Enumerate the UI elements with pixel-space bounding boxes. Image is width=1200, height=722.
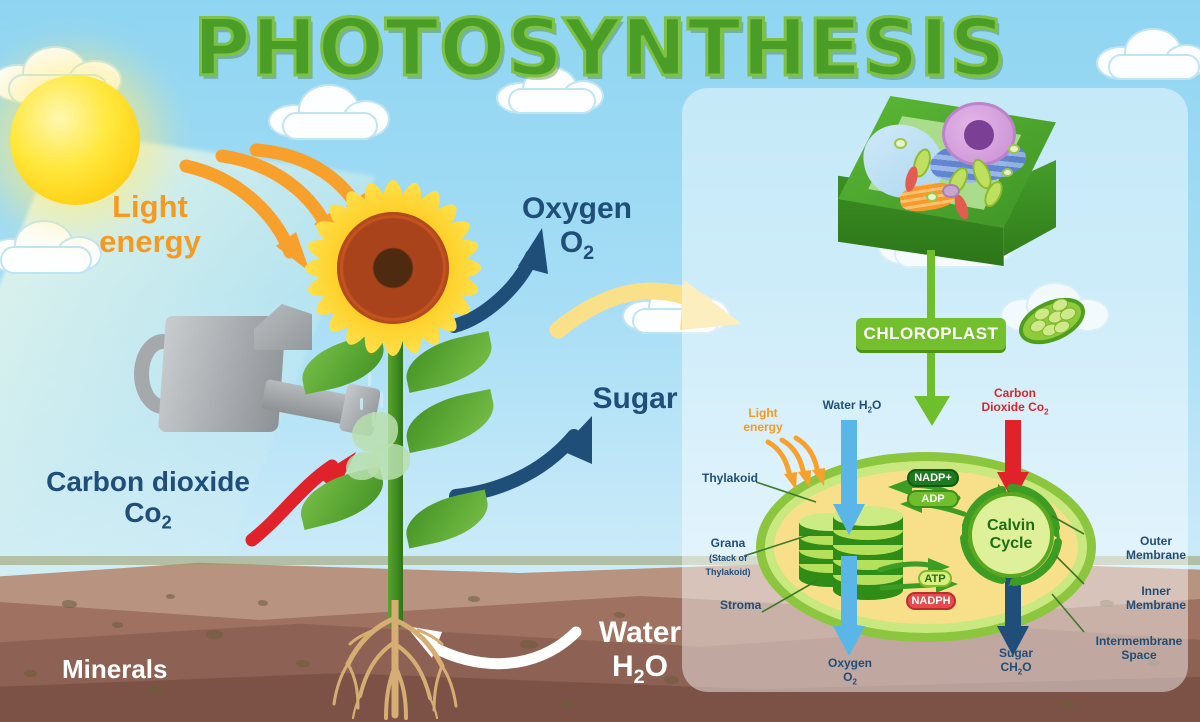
water-droplet [360, 398, 363, 410]
plant-roots [300, 600, 510, 720]
chloroplast-icon [1016, 292, 1088, 350]
label-light-energy-small: Light energy [735, 406, 791, 434]
water-droplet [380, 392, 383, 408]
pebble [560, 700, 573, 707]
label-inner-membrane: Inner Membrane [1118, 584, 1194, 612]
leaf [401, 490, 494, 549]
pebble [206, 630, 223, 639]
flower-disc [337, 212, 449, 324]
flow-arrowhead [912, 396, 952, 428]
pebble [166, 594, 175, 599]
vesicle [926, 192, 938, 202]
label-light-energy: Light energy [75, 190, 225, 259]
label-carbon-dioxide: Carbon dioxide Co2 [18, 466, 278, 534]
label-outer-membrane: Outer Membrane [1118, 534, 1194, 562]
pebble [258, 600, 268, 606]
label-thylakoid: Thylakoid [702, 471, 758, 485]
sunflower [278, 168, 508, 368]
flow-line [927, 250, 935, 320]
label-grana: Grana (Stack of Thylakoid) [692, 536, 764, 578]
label-oxygen: Oxygen O2 [502, 192, 652, 264]
water-droplet [368, 372, 371, 386]
label-minerals: Minerals [62, 655, 242, 684]
label-co2-input: Carbon Dioxide Co2 [962, 386, 1068, 417]
page-title: PHOTOSYNTHESIS [0, 10, 1200, 88]
label-water-input: Water H2O [812, 398, 892, 415]
label-stroma: Stroma [720, 598, 761, 612]
vesicle [1002, 168, 1013, 177]
vesicle [1008, 144, 1020, 154]
plant-cell-illustration [838, 96, 1056, 282]
vesicle [942, 184, 960, 198]
pebble [112, 622, 123, 628]
photosynthesis-diagram: PHOTOSYNTHESIS [0, 0, 1200, 722]
label-intermembrane-space: Intermembrane Space [1082, 634, 1196, 662]
label-oxygen-output: Oxygen O2 [812, 656, 888, 687]
vesicle [894, 138, 907, 149]
nucleolus [964, 120, 994, 150]
pebble [24, 670, 37, 677]
pebble [148, 686, 164, 694]
label-sugar-output: Sugar CH2O [978, 646, 1054, 677]
pebble [62, 600, 77, 608]
chloroplast-badge[interactable]: CHLOROPLAST [856, 318, 1006, 350]
pebble [1060, 700, 1076, 708]
sun-icon [10, 75, 140, 205]
